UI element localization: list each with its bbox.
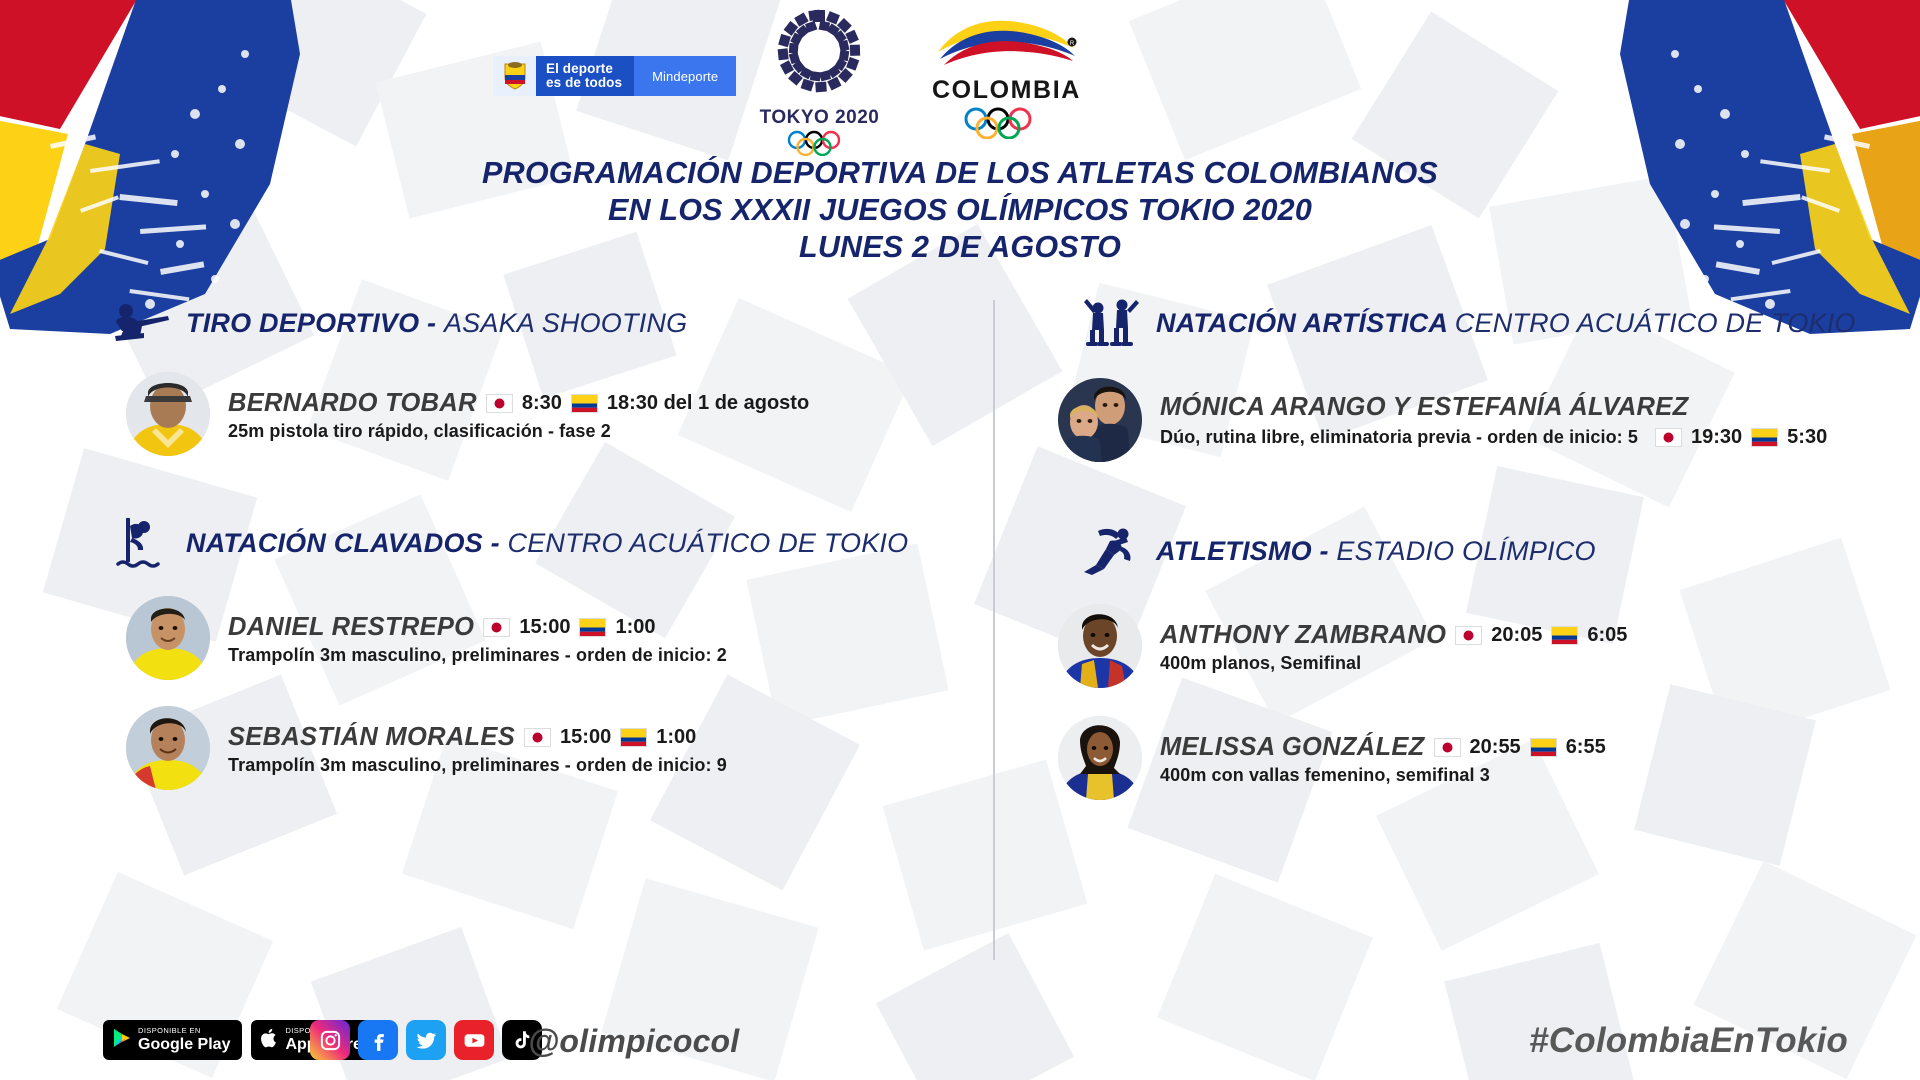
section-header-diving: NATACIÓN CLAVADOS - CENTRO ACUÁTICO DE T… <box>110 512 980 574</box>
svg-text:R: R <box>1070 41 1075 47</box>
mindeporte-slogan-line2: es de todos <box>546 76 622 91</box>
google-play-bottom: Google Play <box>138 1037 230 1053</box>
athlete-event: 400m con vallas femenino, semifinal 3 <box>1160 765 1606 786</box>
athlete-name: DANIEL RESTREPO <box>228 613 474 642</box>
athletics-icon <box>1080 520 1142 582</box>
sport-name: NATACIÓN ARTÍSTICA <box>1156 308 1447 338</box>
mindeporte-slogan-line1: El deporte <box>546 62 622 77</box>
japan-flag-icon <box>1455 626 1482 645</box>
footer: DISPONIBLE EN Google Play DISPONIBLE EN … <box>0 1012 1920 1080</box>
colombia-time: 18:30 del 1 de agosto <box>607 392 809 415</box>
athlete-info: ANTHONY ZAMBRANO 20:05 6:05 400m planos,… <box>1160 619 1627 674</box>
athlete-name-row: ANTHONY ZAMBRANO 20:05 6:05 <box>1160 621 1627 650</box>
youtube-icon[interactable] <box>454 1020 494 1060</box>
google-play-text: DISPONIBLE EN Google Play <box>138 1027 230 1053</box>
diving-icon <box>110 512 172 574</box>
right-column: NATACIÓN ARTÍSTICA CENTRO ACUÁTICO DE TO… <box>1040 292 1910 800</box>
athlete-row: BERNARDO TOBAR 8:30 18:30 del 1 de agost… <box>126 372 980 456</box>
athlete-info: MELISSA GONZÁLEZ 20:55 6:55 400m con val… <box>1160 731 1606 786</box>
japan-flag-icon <box>1655 428 1682 447</box>
instagram-icon[interactable] <box>310 1020 350 1060</box>
athlete-row: SEBASTIÁN MORALES 15:00 1:00 Trampolín 3… <box>126 706 980 790</box>
colombia-shield-icon <box>493 56 536 96</box>
athlete-name: MÓNICA ARANGO Y ESTEFANÍA ÁLVAREZ <box>1160 393 1688 422</box>
japan-time: 19:30 <box>1691 426 1742 449</box>
campaign-hashtag: #ColombiaEnTokio <box>1529 1021 1848 1061</box>
google-play-top: DISPONIBLE EN <box>138 1027 230 1035</box>
athlete-name-row: BERNARDO TOBAR 8:30 18:30 del 1 de agost… <box>228 389 809 418</box>
colombia-flag-icon <box>579 618 606 637</box>
athlete-info: DANIEL RESTREPO 15:00 1:00 Trampolín 3m … <box>228 611 727 666</box>
sport-title-shooting: TIRO DEPORTIVO - ASAKA SHOOTING <box>186 308 687 339</box>
athlete-name-row: SEBASTIÁN MORALES 15:00 1:00 <box>228 723 727 752</box>
social-links <box>310 1020 542 1060</box>
athlete-event: 25m pistola tiro rápido, clasificación -… <box>228 421 809 442</box>
colombia-time: 6:55 <box>1566 736 1606 759</box>
athlete-name: SEBASTIÁN MORALES <box>228 723 515 752</box>
japan-time: 20:55 <box>1470 736 1521 759</box>
athlete-event: Dúo, rutina libre, eliminatoria previa -… <box>1160 427 1638 448</box>
shooting-icon <box>110 292 172 354</box>
twitter-icon[interactable] <box>406 1020 446 1060</box>
athlete-event-row: Dúo, rutina libre, eliminatoria previa -… <box>1160 426 1827 449</box>
sport-name: ATLETISMO <box>1156 536 1312 566</box>
avatar <box>126 372 210 456</box>
facebook-icon[interactable] <box>358 1020 398 1060</box>
athlete-row: MELISSA GONZÁLEZ 20:55 6:55 400m con val… <box>1058 716 1910 800</box>
athlete-info: SEBASTIÁN MORALES 15:00 1:00 Trampolín 3… <box>228 721 727 776</box>
japan-time: 15:00 <box>560 726 611 749</box>
avatar <box>1058 716 1142 800</box>
avatar <box>1058 378 1142 462</box>
athlete-row: MÓNICA ARANGO Y ESTEFANÍA ÁLVAREZ Dúo, r… <box>1058 378 1910 462</box>
mindeporte-name: Mindeporte <box>634 56 736 96</box>
athlete-event: 400m planos, Semifinal <box>1160 653 1627 674</box>
colombia-olympic-committee-logo: R COLOMBIA <box>932 12 1080 139</box>
avatar <box>1058 604 1142 688</box>
sport-title-artistic-swimming: NATACIÓN ARTÍSTICA CENTRO ACUÁTICO DE TO… <box>1156 308 1856 339</box>
google-play-badge[interactable]: DISPONIBLE EN Google Play <box>103 1020 242 1060</box>
japan-flag-icon <box>486 394 513 413</box>
colombia-flag-icon <box>620 728 647 747</box>
google-play-icon <box>113 1028 131 1053</box>
sport-separator <box>1447 308 1455 338</box>
japan-time: 8:30 <box>522 392 562 415</box>
japan-flag-icon <box>524 728 551 747</box>
athlete-row: ANTHONY ZAMBRANO 20:05 6:05 400m planos,… <box>1058 604 1910 688</box>
mindeporte-logo: El deporte es de todos Mindeporte <box>493 56 736 96</box>
colombia-time: 1:00 <box>615 616 655 639</box>
colombia-flag-icon <box>1530 738 1557 757</box>
sport-separator: - <box>483 528 508 558</box>
sport-name: NATACIÓN CLAVADOS <box>186 528 483 558</box>
colombia-flag-icon <box>1751 428 1778 447</box>
colombia-flag-icon <box>571 394 598 413</box>
page-title-line3: LUNES 2 DE AGOSTO <box>0 229 1920 266</box>
social-handle: @olimpicocol <box>528 1023 739 1060</box>
athlete-name-row: DANIEL RESTREPO 15:00 1:00 <box>228 613 727 642</box>
mindeporte-slogan: El deporte es de todos <box>536 56 634 96</box>
athlete-name-row: MÓNICA ARANGO Y ESTEFANÍA ÁLVAREZ <box>1160 393 1827 422</box>
tokyo-2020-emblem-icon <box>757 8 882 100</box>
sport-separator: - <box>419 308 444 338</box>
colombia-ribbon-icon: R <box>932 12 1080 70</box>
avatar <box>126 596 210 680</box>
sport-venue: CENTRO ACUÁTICO DE TOKIO <box>508 528 909 558</box>
athlete-row: DANIEL RESTREPO 15:00 1:00 Trampolín 3m … <box>126 596 980 680</box>
colombia-flag-icon <box>1551 626 1578 645</box>
athlete-name: MELISSA GONZÁLEZ <box>1160 733 1425 762</box>
olympic-rings-icon <box>960 107 1052 139</box>
column-divider <box>993 300 995 960</box>
section-header-shooting: TIRO DEPORTIVO - ASAKA SHOOTING <box>110 292 980 354</box>
athlete-name: BERNARDO TOBAR <box>228 389 477 418</box>
sport-venue: CENTRO ACUÁTICO DE TOKIO <box>1455 308 1856 338</box>
apple-icon <box>261 1028 278 1053</box>
athlete-event: Trampolín 3m masculino, preliminares - o… <box>228 645 727 666</box>
athlete-info: MÓNICA ARANGO Y ESTEFANÍA ÁLVAREZ Dúo, r… <box>1160 391 1827 449</box>
japan-time: 20:05 <box>1491 624 1542 647</box>
section-header-athletics: ATLETISMO - ESTADIO OLÍMPICO <box>1080 520 1910 582</box>
avatar <box>126 706 210 790</box>
page-title-line2: EN LOS XXXII JUEGOS OLÍMPICOS TOKIO 2020 <box>0 192 1920 229</box>
colombia-wordmark: COLOMBIA <box>932 76 1080 105</box>
olympic-rings-icon <box>784 130 856 156</box>
page-title-line1: PROGRAMACIÓN DEPORTIVA DE LOS ATLETAS CO… <box>0 155 1920 192</box>
sport-separator: - <box>1312 536 1337 566</box>
colombia-time: 1:00 <box>656 726 696 749</box>
sport-venue: ASAKA SHOOTING <box>444 308 687 338</box>
athlete-info: BERNARDO TOBAR 8:30 18:30 del 1 de agost… <box>228 387 809 442</box>
sport-title-diving: NATACIÓN CLAVADOS - CENTRO ACUÁTICO DE T… <box>186 528 908 559</box>
tokyo-2020-logo: TOKYO 2020 <box>757 8 882 156</box>
sport-venue: ESTADIO OLÍMPICO <box>1336 536 1595 566</box>
left-column: TIRO DEPORTIVO - ASAKA SHOOTING BERNARDO… <box>100 292 980 790</box>
japan-flag-icon <box>1434 738 1461 757</box>
japan-flag-icon <box>483 618 510 637</box>
sport-name: TIRO DEPORTIVO <box>186 308 419 338</box>
artistic-swimming-icon <box>1080 292 1142 354</box>
section-header-artistic-swimming: NATACIÓN ARTÍSTICA CENTRO ACUÁTICO DE TO… <box>1080 292 1910 354</box>
athlete-event: Trampolín 3m masculino, preliminares - o… <box>228 755 727 776</box>
page-title: PROGRAMACIÓN DEPORTIVA DE LOS ATLETAS CO… <box>0 155 1920 266</box>
athlete-name: ANTHONY ZAMBRANO <box>1160 621 1446 650</box>
athlete-name-row: MELISSA GONZÁLEZ 20:55 6:55 <box>1160 733 1606 762</box>
tokyo-2020-wordmark: TOKYO 2020 <box>757 107 882 129</box>
colombia-time: 6:05 <box>1587 624 1627 647</box>
colombia-time: 5:30 <box>1787 426 1827 449</box>
japan-time: 15:00 <box>519 616 570 639</box>
sport-title-athletics: ATLETISMO - ESTADIO OLÍMPICO <box>1156 536 1596 567</box>
